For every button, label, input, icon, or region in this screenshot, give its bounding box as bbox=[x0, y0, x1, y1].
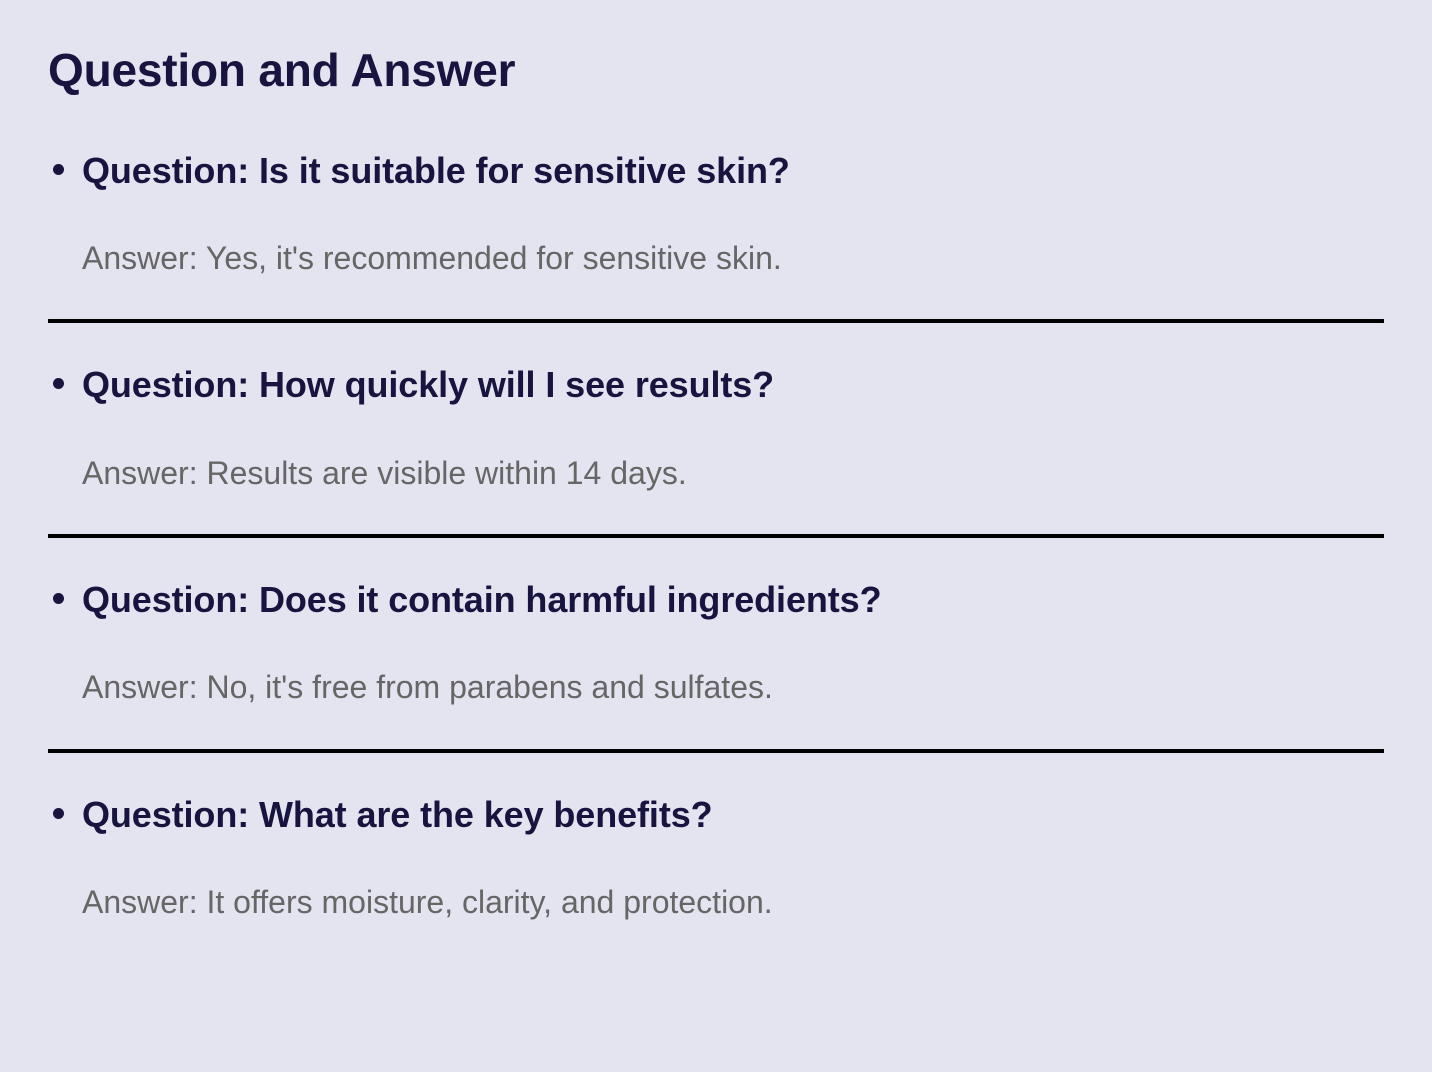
list-item: Question: How quickly will I see results… bbox=[48, 363, 1384, 538]
bullet-icon bbox=[53, 378, 64, 389]
question-text: Question: How quickly will I see results… bbox=[48, 363, 1384, 406]
question-answer-panel: Question and Answer Question: Is it suit… bbox=[0, 0, 1432, 1072]
answer-text: Answer: No, it's free from parabens and … bbox=[48, 668, 1384, 706]
question-label: Question: Is it suitable for sensitive s… bbox=[82, 150, 790, 191]
list-item: Question: What are the key benefits? Ans… bbox=[48, 793, 1384, 922]
question-label: Question: What are the key benefits? bbox=[82, 794, 713, 835]
answer-text: Answer: Yes, it's recommended for sensit… bbox=[48, 239, 1384, 277]
bullet-icon bbox=[53, 593, 64, 604]
answer-text: Answer: It offers moisture, clarity, and… bbox=[48, 883, 1384, 921]
divider bbox=[48, 319, 1384, 323]
qa-list: Question: Is it suitable for sensitive s… bbox=[48, 149, 1384, 921]
question-text: Question: Is it suitable for sensitive s… bbox=[48, 149, 1384, 192]
bullet-icon bbox=[53, 164, 64, 175]
question-text: Question: What are the key benefits? bbox=[48, 793, 1384, 836]
divider bbox=[48, 749, 1384, 753]
bullet-icon bbox=[53, 808, 64, 819]
question-label: Question: Does it contain harmful ingred… bbox=[82, 579, 881, 620]
list-item: Question: Does it contain harmful ingred… bbox=[48, 578, 1384, 753]
list-item: Question: Is it suitable for sensitive s… bbox=[48, 149, 1384, 324]
divider bbox=[48, 534, 1384, 538]
question-text: Question: Does it contain harmful ingred… bbox=[48, 578, 1384, 621]
answer-text: Answer: Results are visible within 14 da… bbox=[48, 454, 1384, 492]
page-title: Question and Answer bbox=[48, 44, 1384, 97]
question-label: Question: How quickly will I see results… bbox=[82, 364, 774, 405]
